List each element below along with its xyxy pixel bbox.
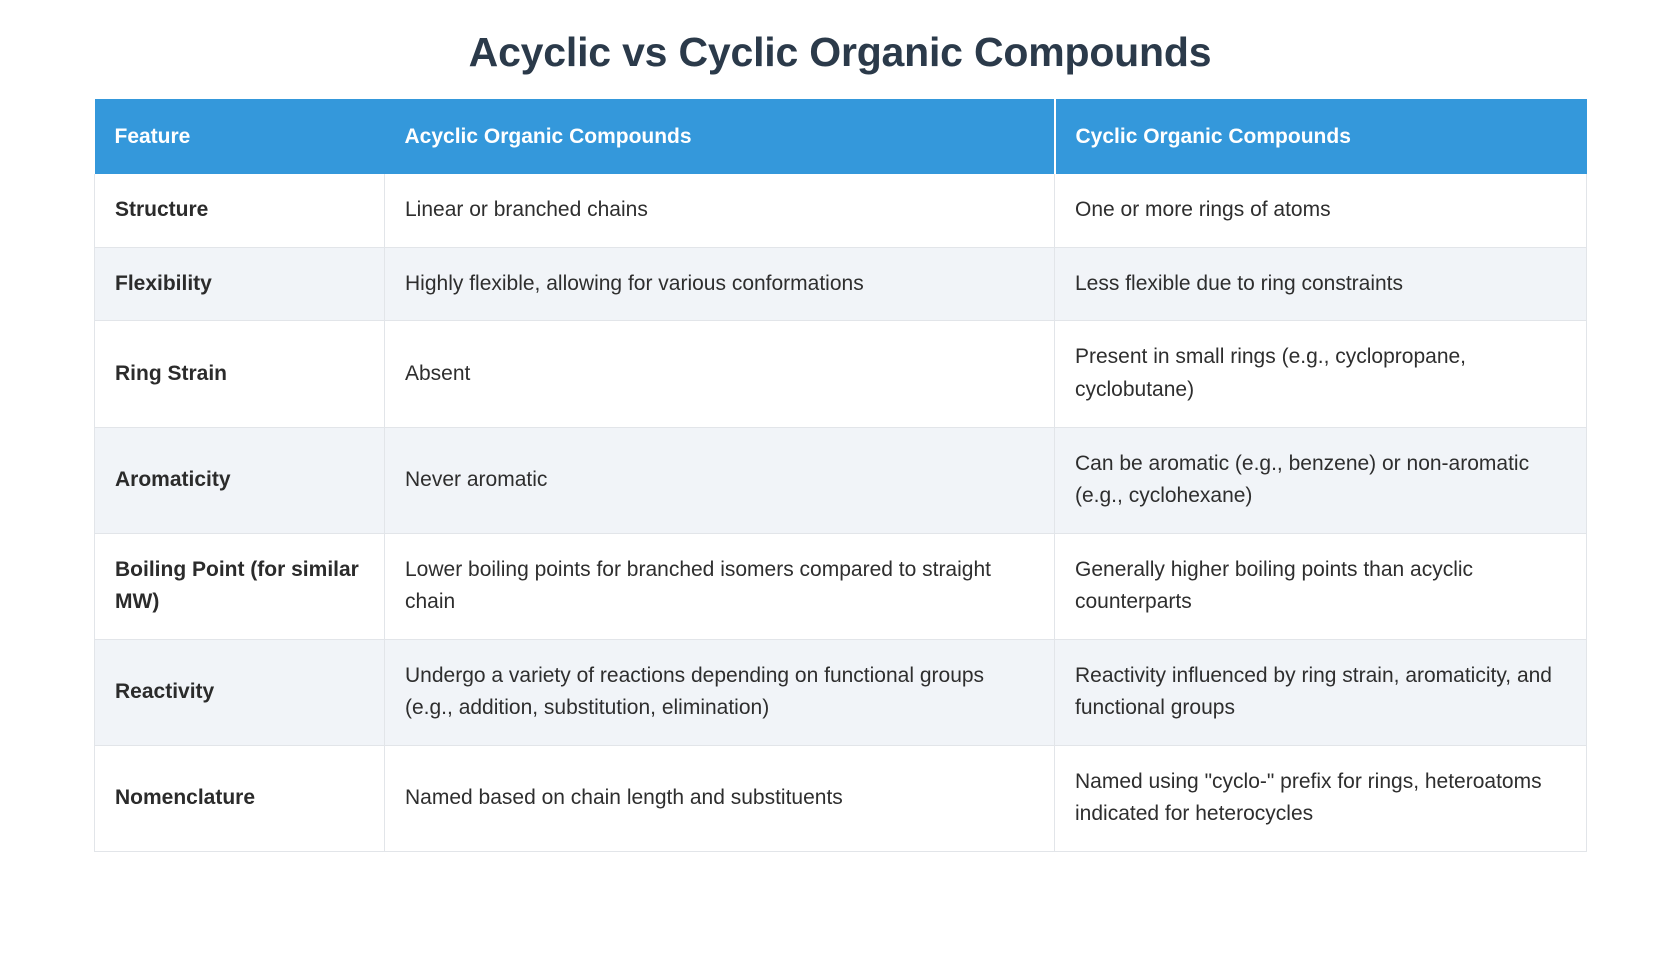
cell-cyclic: Reactivity influenced by ring strain, ar… [1055, 639, 1587, 745]
cell-feature: Reactivity [95, 639, 385, 745]
column-header-feature: Feature [95, 99, 385, 174]
table-container: Feature Acyclic Organic Compounds Cyclic… [94, 99, 1586, 852]
cell-feature: Aromaticity [95, 427, 385, 533]
cell-feature: Boiling Point (for similar MW) [95, 533, 385, 639]
table-header: Feature Acyclic Organic Compounds Cyclic… [95, 99, 1587, 174]
table-row: Ring Strain Absent Present in small ring… [95, 321, 1587, 427]
cell-acyclic: Undergo a variety of reactions depending… [385, 639, 1055, 745]
cell-feature: Flexibility [95, 247, 385, 321]
cell-feature: Nomenclature [95, 745, 385, 851]
table-body: Structure Linear or branched chains One … [95, 174, 1587, 851]
cell-acyclic: Absent [385, 321, 1055, 427]
cell-acyclic: Linear or branched chains [385, 174, 1055, 247]
cell-acyclic: Highly flexible, allowing for various co… [385, 247, 1055, 321]
table-header-row: Feature Acyclic Organic Compounds Cyclic… [95, 99, 1587, 174]
cell-cyclic: Generally higher boiling points than acy… [1055, 533, 1587, 639]
table-row: Structure Linear or branched chains One … [95, 174, 1587, 247]
page-title: Acyclic vs Cyclic Organic Compounds [0, 0, 1680, 77]
cell-acyclic: Never aromatic [385, 427, 1055, 533]
cell-cyclic: One or more rings of atoms [1055, 174, 1587, 247]
cell-cyclic: Present in small rings (e.g., cyclopropa… [1055, 321, 1587, 427]
table-row: Boiling Point (for similar MW) Lower boi… [95, 533, 1587, 639]
cell-cyclic: Less flexible due to ring constraints [1055, 247, 1587, 321]
comparison-table-page: Acyclic vs Cyclic Organic Compounds Feat… [0, 0, 1680, 964]
cell-acyclic: Named based on chain length and substitu… [385, 745, 1055, 851]
comparison-table: Feature Acyclic Organic Compounds Cyclic… [94, 99, 1587, 852]
table-row: Flexibility Highly flexible, allowing fo… [95, 247, 1587, 321]
table-row: Reactivity Undergo a variety of reaction… [95, 639, 1587, 745]
cell-feature: Ring Strain [95, 321, 385, 427]
cell-cyclic: Can be aromatic (e.g., benzene) or non-a… [1055, 427, 1587, 533]
table-row: Aromaticity Never aromatic Can be aromat… [95, 427, 1587, 533]
column-header-cyclic: Cyclic Organic Compounds [1055, 99, 1587, 174]
cell-feature: Structure [95, 174, 385, 247]
column-header-acyclic: Acyclic Organic Compounds [385, 99, 1055, 174]
cell-cyclic: Named using "cyclo-" prefix for rings, h… [1055, 745, 1587, 851]
cell-acyclic: Lower boiling points for branched isomer… [385, 533, 1055, 639]
table-row: Nomenclature Named based on chain length… [95, 745, 1587, 851]
